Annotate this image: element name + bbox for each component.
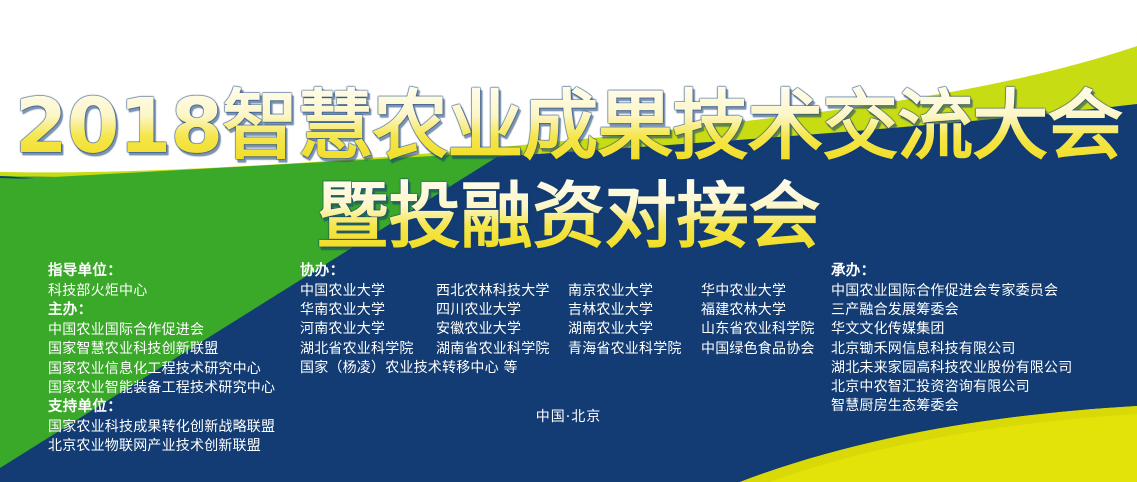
assist-item: 山东省农业科学院 xyxy=(701,320,841,339)
assist-grid: 中国农业大学 西北农林科技大学 南京农业大学 华中农业大学 华南农业大学 四川农… xyxy=(300,282,820,378)
assist-item: 湖北省农业科学院 xyxy=(300,340,436,359)
undertaker-item: 华文文化传媒集团 xyxy=(831,320,1131,339)
column-organizers: 指导单位： 科技部火炬中心 主办： 中国农业国际合作促进会 国家智慧农业科技创新… xyxy=(48,262,298,456)
assist-item-last: 国家（杨凌）农业技术转移中心 等 xyxy=(300,359,568,378)
assist-item: 中国绿色食品协会 xyxy=(701,340,841,359)
undertaker-item: 湖北未来家园高科技农业股份有限公司 xyxy=(831,359,1131,378)
assist-item: 西北农林科技大学 xyxy=(436,282,568,301)
conference-banner: 2018智慧农业成果技术交流大会 2018智慧农业成果技术交流大会 暨投融资对接… xyxy=(0,0,1137,482)
host-item: 中国农业国际合作促进会 xyxy=(48,321,298,340)
support-item: 北京农业物联网产业技术创新联盟 xyxy=(48,437,298,456)
undertaker-heading: 承办： xyxy=(831,262,1131,281)
assist-heading: 协办： xyxy=(300,262,820,281)
assist-item: 华南农业大学 xyxy=(300,301,436,320)
assist-item: 华中农业大学 xyxy=(701,282,841,301)
host-item: 国家农业信息化工程技术研究中心 xyxy=(48,360,298,379)
undertaker-item: 三产融合发展筹委会 xyxy=(831,301,1131,320)
assist-item: 中国农业大学 xyxy=(300,282,436,301)
guide-heading: 指导单位： xyxy=(48,262,298,281)
assist-item: 安徽农业大学 xyxy=(436,320,568,339)
assist-item: 吉林农业大学 xyxy=(568,301,701,320)
assist-item: 南京农业大学 xyxy=(568,282,701,301)
corner-fill xyxy=(0,468,3,482)
guide-item: 科技部火炬中心 xyxy=(48,282,298,301)
column-co-organizers: 协办： 中国农业大学 西北农林科技大学 南京农业大学 华中农业大学 华南农业大学… xyxy=(300,262,820,378)
assist-item: 四川农业大学 xyxy=(436,301,568,320)
undertaker-item: 中国农业国际合作促进会专家委员会 xyxy=(831,282,1131,301)
assist-item: 湖南农业大学 xyxy=(568,320,701,339)
undertaker-item: 北京锄禾网信息科技有限公司 xyxy=(831,340,1131,359)
host-item: 国家农业智能装备工程技术研究中心 xyxy=(48,379,298,398)
host-item: 国家智慧农业科技创新联盟 xyxy=(48,340,298,359)
host-heading: 主办： xyxy=(48,301,298,320)
column-hosts: 承办： 中国农业国际合作促进会专家委员会 三产融合发展筹委会 华文文化传媒集团 … xyxy=(831,262,1131,416)
undertaker-item: 北京中农智汇投资咨询有限公司 xyxy=(831,378,1131,397)
assist-item: 河南农业大学 xyxy=(300,320,436,339)
assist-item: 湖南省农业科学院 xyxy=(436,340,568,359)
location-text: 中国·北京 xyxy=(0,406,1137,426)
assist-item: 青海省农业科学院 xyxy=(568,340,701,359)
assist-item: 福建农林大学 xyxy=(701,301,841,320)
info-section: 指导单位： 科技部火炬中心 主办： 中国农业国际合作促进会 国家智慧农业科技创新… xyxy=(0,262,1137,462)
